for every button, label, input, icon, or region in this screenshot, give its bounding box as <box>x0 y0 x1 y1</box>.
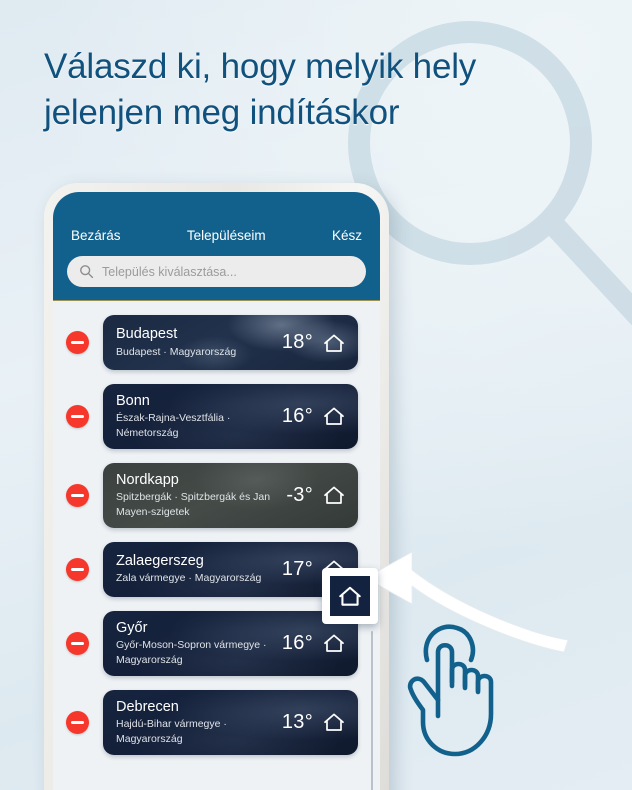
list-item[interactable]: Bonn Észak-Rajna-Vesztfália · Németorszá… <box>53 384 380 449</box>
temperature-value: 16° <box>282 632 313 655</box>
home-icon[interactable] <box>322 632 346 654</box>
location-text: Bonn Észak-Rajna-Vesztfália · Németorszá… <box>116 392 276 441</box>
search-input[interactable]: Település kiválasztása... <box>67 256 366 287</box>
location-text: Zalaegerszeg Zala vármegye · Magyarorszá… <box>116 552 261 586</box>
headline-line-2: jelenjen meg indításkor <box>44 90 564 136</box>
list-item[interactable]: Debrecen Hajdú-Bihar vármegye · Magyaror… <box>53 690 380 755</box>
location-name: Zalaegerszeg <box>116 552 261 570</box>
location-subtitle: Hajdú-Bihar vármegye · Magyarország <box>116 717 276 747</box>
location-meta: 18° <box>276 331 346 354</box>
headline-line-1: Válaszd ki, hogy melyik hely <box>44 47 476 86</box>
scrollbar[interactable] <box>371 631 373 790</box>
location-card[interactable]: Győr Győr-Moson-Sopron vármegye · Magyar… <box>103 611 358 676</box>
phone-mockup: Bezárás Településeim Kész Település kivá… <box>44 183 389 790</box>
temperature-value: 17° <box>282 558 313 581</box>
minus-circle-icon[interactable] <box>66 632 89 655</box>
home-icon[interactable] <box>322 332 346 354</box>
location-meta: 13° <box>276 711 346 734</box>
search-icon <box>79 264 94 279</box>
location-meta: 16° <box>276 405 346 428</box>
location-text: Nordkapp Spitzbergák · Spitzbergák és Ja… <box>116 471 280 520</box>
saved-locations-list: Budapest Budapest · Magyarország 18° <box>53 301 380 790</box>
home-button-highlight-inner <box>330 576 370 616</box>
tap-hand-icon <box>405 610 525 760</box>
list-item[interactable]: Budapest Budapest · Magyarország 18° <box>53 315 380 370</box>
phone-screen: Bezárás Településeim Kész Település kivá… <box>53 192 380 790</box>
temperature-value: 16° <box>282 405 313 428</box>
location-name: Nordkapp <box>116 471 280 489</box>
page-title: Válaszd ki, hogy melyik hely jelenjen me… <box>44 44 564 136</box>
home-icon[interactable] <box>337 584 363 608</box>
home-icon[interactable] <box>322 484 346 506</box>
screen-title: Településeim <box>187 228 266 243</box>
curved-arrow-left-icon <box>360 548 575 663</box>
location-text: Győr Győr-Moson-Sopron vármegye · Magyar… <box>116 619 276 668</box>
promo-screenshot: Válaszd ki, hogy melyik hely jelenjen me… <box>0 0 632 790</box>
home-icon[interactable] <box>322 711 346 733</box>
location-subtitle: Budapest · Magyarország <box>116 345 236 360</box>
location-meta: -3° <box>280 484 346 507</box>
close-button[interactable]: Bezárás <box>71 228 121 243</box>
location-subtitle: Észak-Rajna-Vesztfália · Németország <box>116 411 276 441</box>
location-name: Debrecen <box>116 698 276 716</box>
nav-bar: Bezárás Településeim Kész <box>67 228 366 243</box>
location-subtitle: Győr-Moson-Sopron vármegye · Magyarorszá… <box>116 638 276 668</box>
location-card[interactable]: Bonn Észak-Rajna-Vesztfália · Németorszá… <box>103 384 358 449</box>
location-meta: 16° <box>276 632 346 655</box>
location-card[interactable]: Debrecen Hajdú-Bihar vármegye · Magyaror… <box>103 690 358 755</box>
temperature-value: -3° <box>286 484 313 507</box>
list-item[interactable]: Nordkapp Spitzbergák · Spitzbergák és Ja… <box>53 463 380 528</box>
location-subtitle: Zala vármegye · Magyarország <box>116 571 261 586</box>
location-text: Debrecen Hajdú-Bihar vármegye · Magyaror… <box>116 698 276 747</box>
temperature-value: 13° <box>282 711 313 734</box>
location-subtitle: Spitzbergák · Spitzbergák és Jan Mayen-s… <box>116 490 280 520</box>
minus-circle-icon[interactable] <box>66 405 89 428</box>
search-placeholder: Település kiválasztása... <box>102 265 237 279</box>
location-name: Budapest <box>116 325 236 343</box>
location-text: Budapest Budapest · Magyarország <box>116 325 236 359</box>
home-icon[interactable] <box>322 405 346 427</box>
home-button-highlight[interactable] <box>322 568 378 624</box>
minus-circle-icon[interactable] <box>66 711 89 734</box>
minus-circle-icon[interactable] <box>66 484 89 507</box>
minus-circle-icon[interactable] <box>66 331 89 354</box>
location-card[interactable]: Nordkapp Spitzbergák · Spitzbergák és Ja… <box>103 463 358 528</box>
minus-circle-icon[interactable] <box>66 558 89 581</box>
app-header: Bezárás Településeim Kész Település kivá… <box>53 192 380 301</box>
location-card[interactable]: Zalaegerszeg Zala vármegye · Magyarorszá… <box>103 542 358 597</box>
location-card[interactable]: Budapest Budapest · Magyarország 18° <box>103 315 358 370</box>
location-name: Győr <box>116 619 276 637</box>
done-button[interactable]: Kész <box>332 228 362 243</box>
temperature-value: 18° <box>282 331 313 354</box>
location-name: Bonn <box>116 392 276 410</box>
